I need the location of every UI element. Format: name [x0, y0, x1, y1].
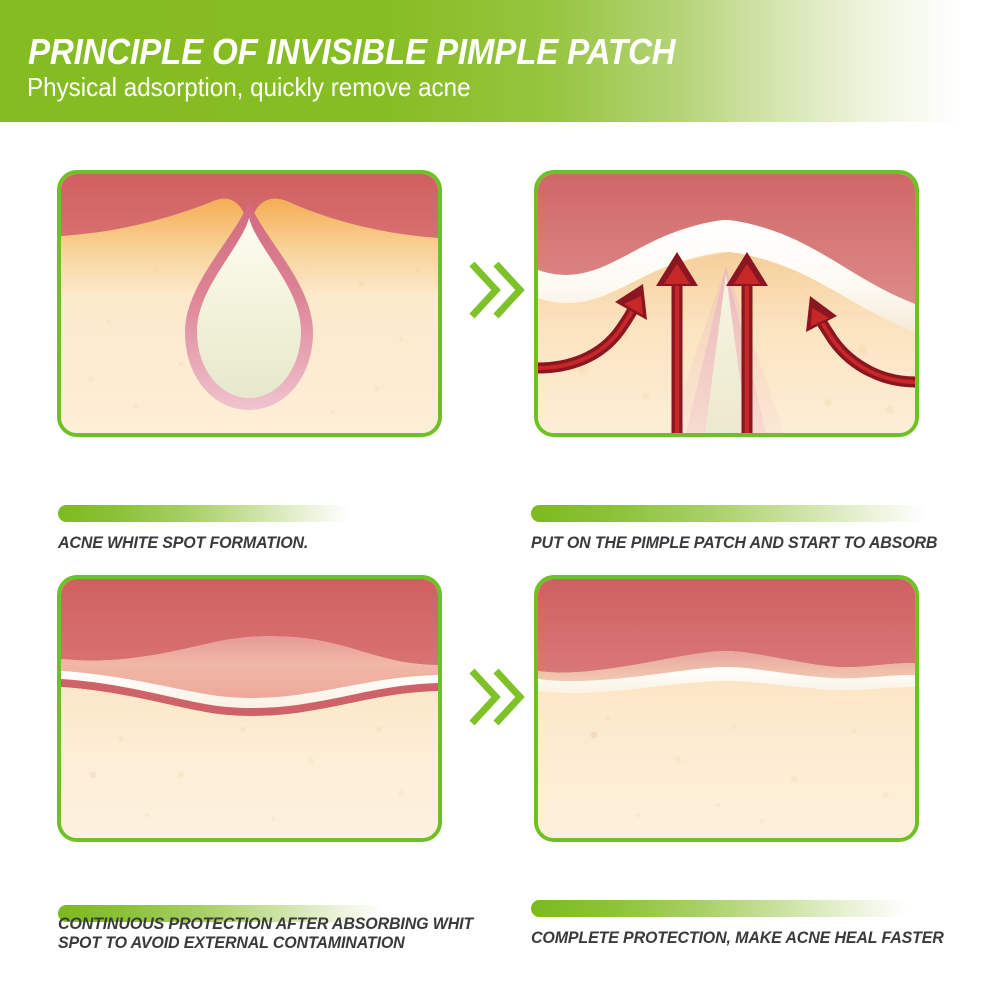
illustration-panel-step-1	[57, 170, 442, 437]
step-caption-1: ACNE WHITE SPOT FORMATION.	[58, 496, 308, 572]
caption-text: COMPLETE PROTECTION, MAKE ACNE HEAL FAST…	[531, 929, 944, 948]
patch-absorbing-with-arrows-icon	[538, 174, 915, 433]
caption-text: PUT ON THE PIMPLE PATCH AND START TO ABS…	[531, 534, 937, 553]
caption-highlight-bar	[58, 505, 349, 522]
step-caption-2: PUT ON THE PIMPLE PATCH AND START TO ABS…	[531, 496, 937, 572]
illustration-panel-step-3	[57, 575, 442, 842]
acne-white-spot-formation-icon	[61, 174, 438, 433]
caption-highlight-bar	[531, 505, 927, 522]
step-caption-3: CONTINUOUS PROTECTION AFTER ABSORBING WH…	[58, 877, 473, 972]
page-title: PRINCIPLE OF INVISIBLE PIMPLE PATCH	[28, 31, 675, 73]
caption-text: CONTINUOUS PROTECTION AFTER ABSORBING WH…	[58, 915, 473, 953]
double-chevron-right-icon	[468, 258, 526, 322]
caption-highlight-bar	[531, 900, 907, 917]
step-caption-4: COMPLETE PROTECTION, MAKE ACNE HEAL FAST…	[531, 891, 944, 967]
healing-skin-protected-icon	[61, 579, 438, 838]
caption-text: ACNE WHITE SPOT FORMATION.	[58, 534, 308, 553]
page-subtitle: Physical adsorption, quickly remove acne	[27, 72, 471, 103]
flow-arrow-step-3-to-4	[468, 665, 526, 729]
illustration-panel-step-2	[534, 170, 919, 437]
double-chevron-right-icon	[468, 665, 526, 729]
page-header: PRINCIPLE OF INVISIBLE PIMPLE PATCH Phys…	[0, 0, 1000, 122]
fully-healed-skin-icon	[538, 579, 915, 838]
illustration-panel-step-4	[534, 575, 919, 842]
flow-arrow-step-1-to-2	[468, 258, 526, 322]
